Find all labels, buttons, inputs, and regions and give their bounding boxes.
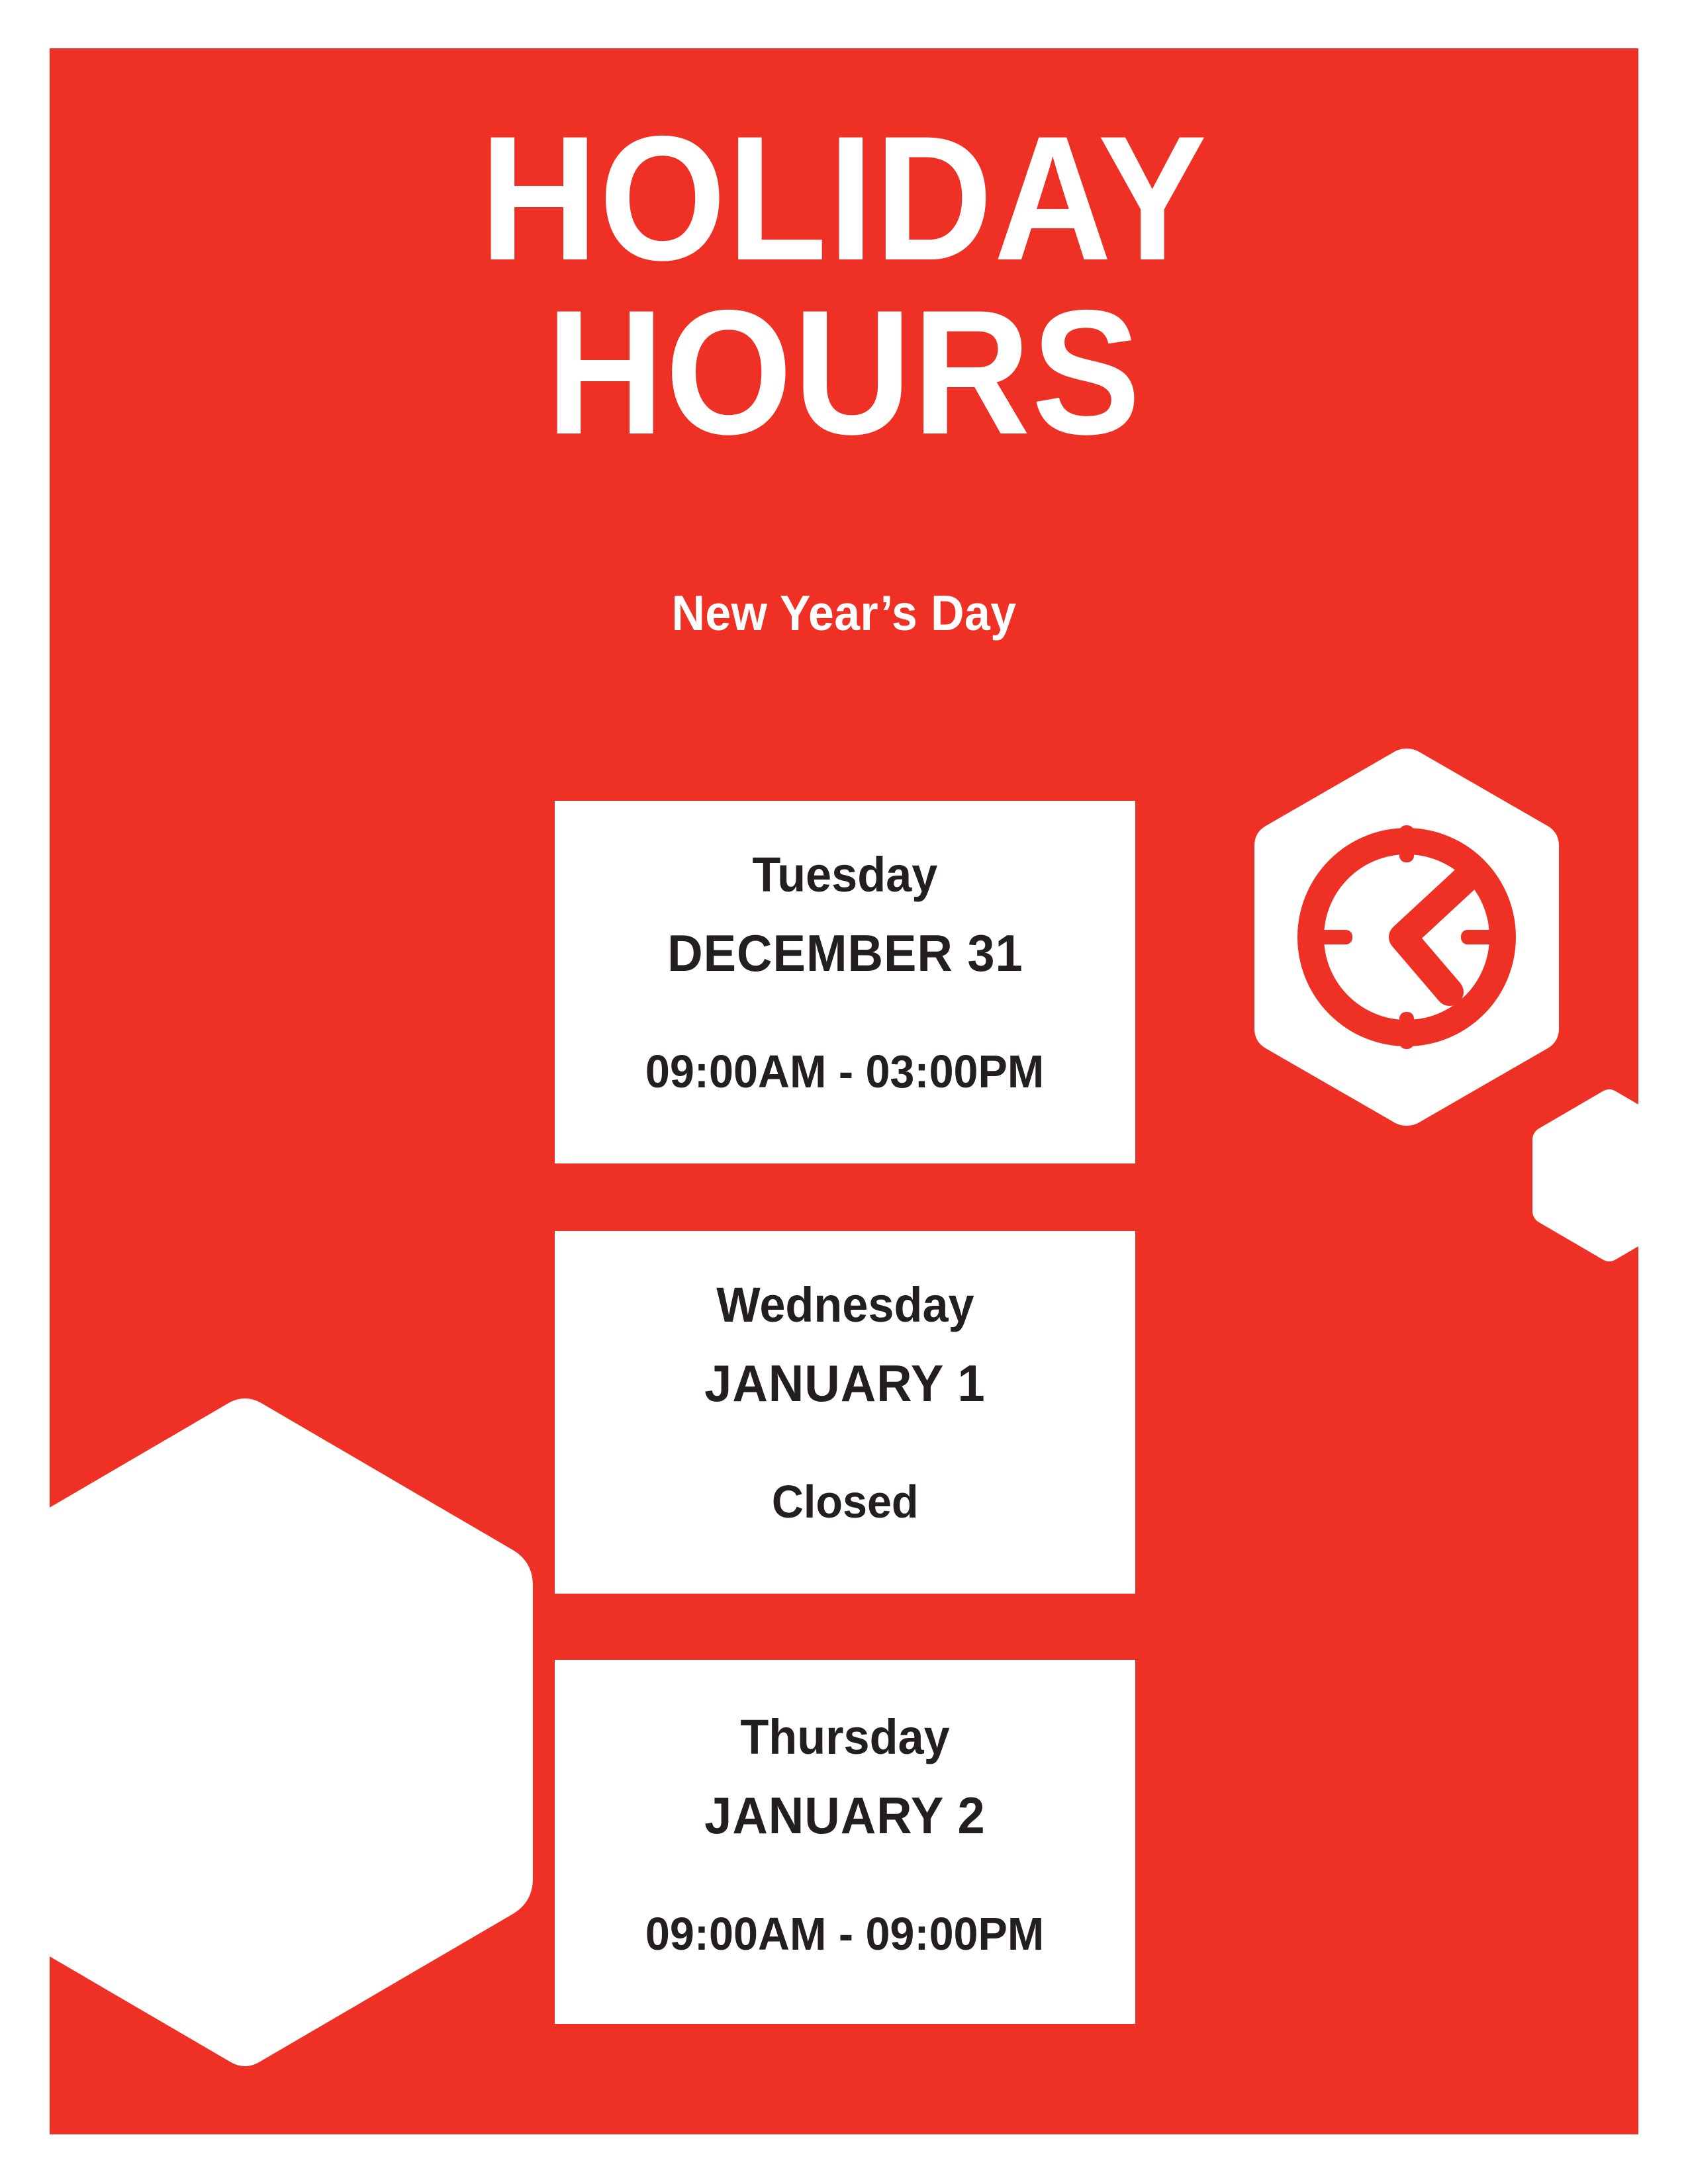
schedule-hours: 09:00AM - 03:00PM [645, 1048, 1044, 1095]
poster-canvas: HOLIDAY HOURS New Year’s Day Tuesda [0, 0, 1688, 2184]
schedule-card[interactable]: Wednesday JANUARY 1 Closed [555, 1231, 1135, 1594]
schedule-hours: Closed [772, 1479, 919, 1525]
hexagon-corner-icon [50, 1398, 533, 2134]
schedule-date: JANUARY 1 [704, 1357, 985, 1409]
schedule-date: DECEMBER 31 [667, 927, 1023, 979]
schedule-weekday: Tuesday [752, 850, 937, 899]
hexagon-accent-icon [1532, 1089, 1638, 1262]
title-line-two: HOURS [113, 285, 1575, 459]
schedule-hours: 09:00AM - 09:00PM [645, 1911, 1044, 1957]
schedule-weekday: Wednesday [716, 1281, 974, 1330]
red-background-panel: HOLIDAY HOURS New Year’s Day Tuesda [50, 48, 1638, 2134]
schedule-card[interactable]: Tuesday DECEMBER 31 09:00AM - 03:00PM [555, 801, 1135, 1163]
schedule-card[interactable]: Thursday JANUARY 2 09:00AM - 09:00PM [555, 1660, 1135, 2024]
schedule-weekday: Thursday [740, 1713, 949, 1762]
title-line-one: HOLIDAY [113, 111, 1575, 285]
clock-icon [1251, 748, 1562, 1126]
page-title: HOLIDAY HOURS [113, 111, 1575, 459]
schedule-date: JANUARY 2 [704, 1790, 985, 1841]
page-subtitle: New Year’s Day [105, 584, 1583, 641]
